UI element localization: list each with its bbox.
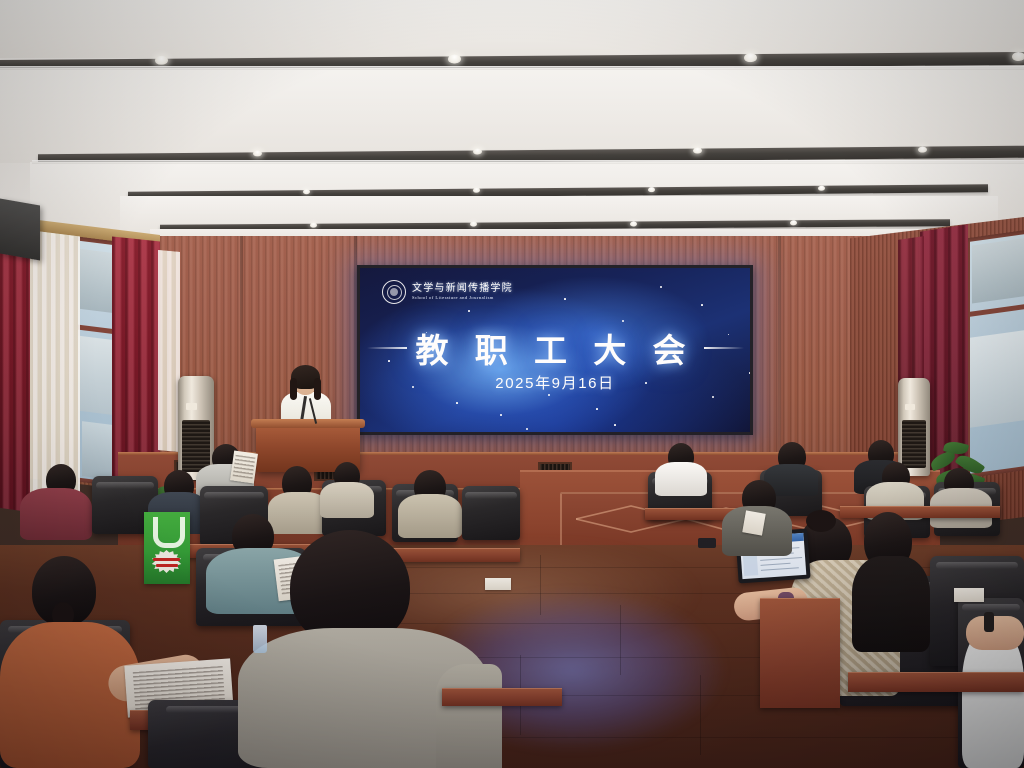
document-page [230, 450, 258, 483]
attendee-hair-bun [806, 510, 836, 532]
document-text-lines [232, 455, 255, 479]
water-bottle [253, 625, 267, 653]
document-page [954, 588, 984, 602]
audience-rows [0, 0, 1024, 768]
bag-text-line [153, 558, 180, 561]
attendee-body [852, 556, 930, 652]
chair[interactable] [462, 486, 520, 540]
attendee-body [655, 462, 707, 496]
bag-text-line [156, 564, 178, 567]
green-shopping-bag [144, 512, 190, 584]
laptop-text-line [761, 563, 791, 566]
laptop-text-line [760, 557, 802, 561]
desk [848, 672, 1024, 692]
mobile-phone[interactable] [698, 538, 716, 548]
bag-logo-icon [153, 517, 185, 548]
desk [442, 688, 562, 706]
document-page [485, 578, 511, 590]
attendee-body [20, 488, 92, 540]
wristwatch [984, 612, 994, 632]
attendee-body [962, 630, 1024, 768]
meeting-photo: 文学与新闻传播学院 School of Literature and Journ… [0, 0, 1024, 768]
desk [760, 598, 840, 708]
attendee-body [320, 482, 374, 518]
attendee-shoulder [436, 664, 502, 768]
desk [840, 506, 1000, 518]
attendee-arm [966, 616, 1024, 650]
document-page [742, 510, 766, 535]
attendee-body [398, 494, 462, 538]
laptop-text-line [761, 567, 799, 571]
